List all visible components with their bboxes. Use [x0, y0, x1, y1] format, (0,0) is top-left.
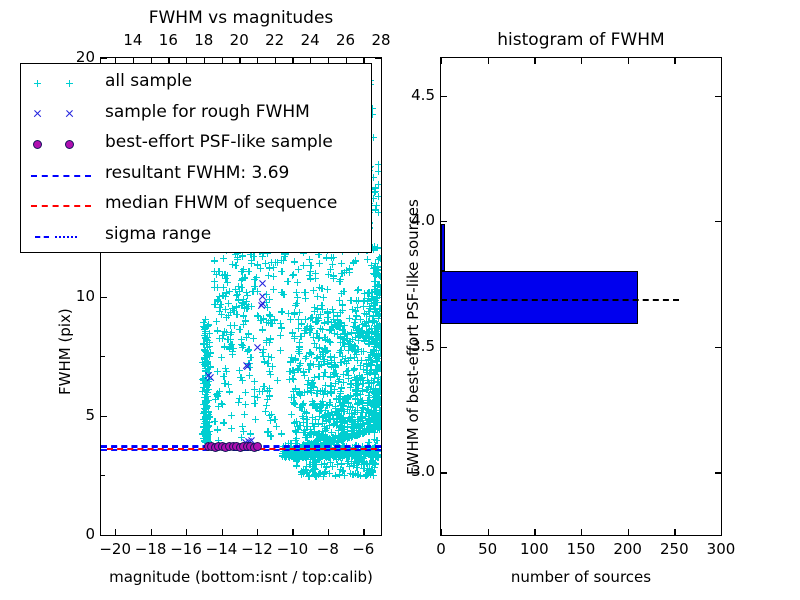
dash-dot-line-icon	[35, 236, 49, 238]
scatter-legend[interactable]: all samplesample for rough FWHMbest-effo…	[20, 63, 372, 253]
scatter-y-tick-label: 0	[53, 525, 95, 543]
legend-symbol	[21, 221, 101, 252]
legend-symbol	[21, 68, 101, 99]
legend-symbol	[21, 190, 101, 221]
histogram-tick	[721, 529, 722, 535]
scatter-title: FWHM vs magnitudes	[100, 8, 382, 28]
legend-label: resultant FWHM: 3.69	[105, 163, 289, 183]
legend-label: sample for rough FWHM	[105, 102, 310, 122]
scatter-bottom-tick-label: −6	[342, 540, 384, 558]
scatter-y-tick-label: 10	[53, 287, 95, 305]
scatter-top-tick-label: 18	[190, 31, 218, 49]
legend-label: all sample	[105, 71, 192, 91]
scatter-tick	[101, 535, 107, 536]
legend-entry[interactable]: median FHWM of sequence	[21, 190, 371, 221]
scatter-y-axis-label: FWHM (pix)	[56, 308, 74, 395]
dash-dot-line-icon	[55, 236, 77, 238]
legend-symbol	[21, 129, 101, 160]
figure-canvas: FWHM vs magnitudes 1416182022242628 −20−…	[0, 0, 800, 600]
legend-entry[interactable]: all sample	[21, 68, 371, 99]
scatter-top-tick-label: 24	[296, 31, 324, 49]
histogram-tick	[721, 58, 722, 64]
legend-symbol	[21, 160, 101, 191]
cross-icon	[65, 110, 73, 118]
legend-entry[interactable]: sample for rough FWHM	[21, 99, 371, 130]
histogram-x-tick-label: 250	[653, 540, 695, 558]
histogram-x-tick-label: 100	[513, 540, 555, 558]
scatter-top-tick-label: 26	[332, 31, 360, 49]
plus-icon	[66, 80, 73, 87]
dashed-line-icon	[31, 175, 91, 177]
legend-label: best-effort PSF-like sample	[105, 132, 333, 152]
scatter-tick	[381, 58, 382, 64]
legend-symbol	[21, 99, 101, 130]
histogram-x-axis-label: number of sources	[440, 568, 722, 586]
scatter-x-axis-label: magnitude (bottom:isnt / top:calib)	[100, 568, 382, 586]
legend-entry[interactable]: resultant FWHM: 3.69	[21, 160, 371, 191]
median-fwhm-line	[107, 448, 381, 450]
scatter-top-tick-label: 14	[119, 31, 147, 49]
legend-entry[interactable]: best-effort PSF-like sample	[21, 129, 371, 160]
scatter-y-tick-label: 5	[53, 406, 95, 424]
plus-icon	[34, 80, 41, 87]
histogram-y-tick-label: 4.5	[391, 86, 435, 104]
dashed-line-icon	[31, 205, 91, 207]
legend-label: sigma range	[105, 224, 211, 244]
histogram-title: histogram of FWHM	[440, 30, 722, 50]
legend-label: median FHWM of sequence	[105, 193, 337, 213]
legend-entry[interactable]: sigma range	[21, 221, 371, 252]
histogram-data-area	[441, 58, 721, 535]
scatter-tick	[375, 535, 381, 536]
scatter-top-tick-label: 20	[225, 31, 253, 49]
circle-icon	[65, 140, 74, 149]
histogram-x-tick-label: 0	[420, 540, 462, 558]
histogram-x-tick-label: 200	[607, 540, 649, 558]
scatter-top-tick-label: 16	[154, 31, 182, 49]
histogram-y-axis-label: FWHM of best-effort PSF-like sources	[404, 199, 422, 475]
histogram-x-tick-label: 300	[700, 540, 742, 558]
histogram-x-tick-label: 50	[467, 540, 509, 558]
circle-icon	[33, 140, 42, 149]
scatter-top-tick-label: 22	[261, 31, 289, 49]
histogram-x-tick-label: 150	[560, 540, 602, 558]
histogram-median-line	[441, 299, 679, 301]
cross-icon	[33, 110, 41, 118]
scatter-top-tick-label: 28	[367, 31, 395, 49]
